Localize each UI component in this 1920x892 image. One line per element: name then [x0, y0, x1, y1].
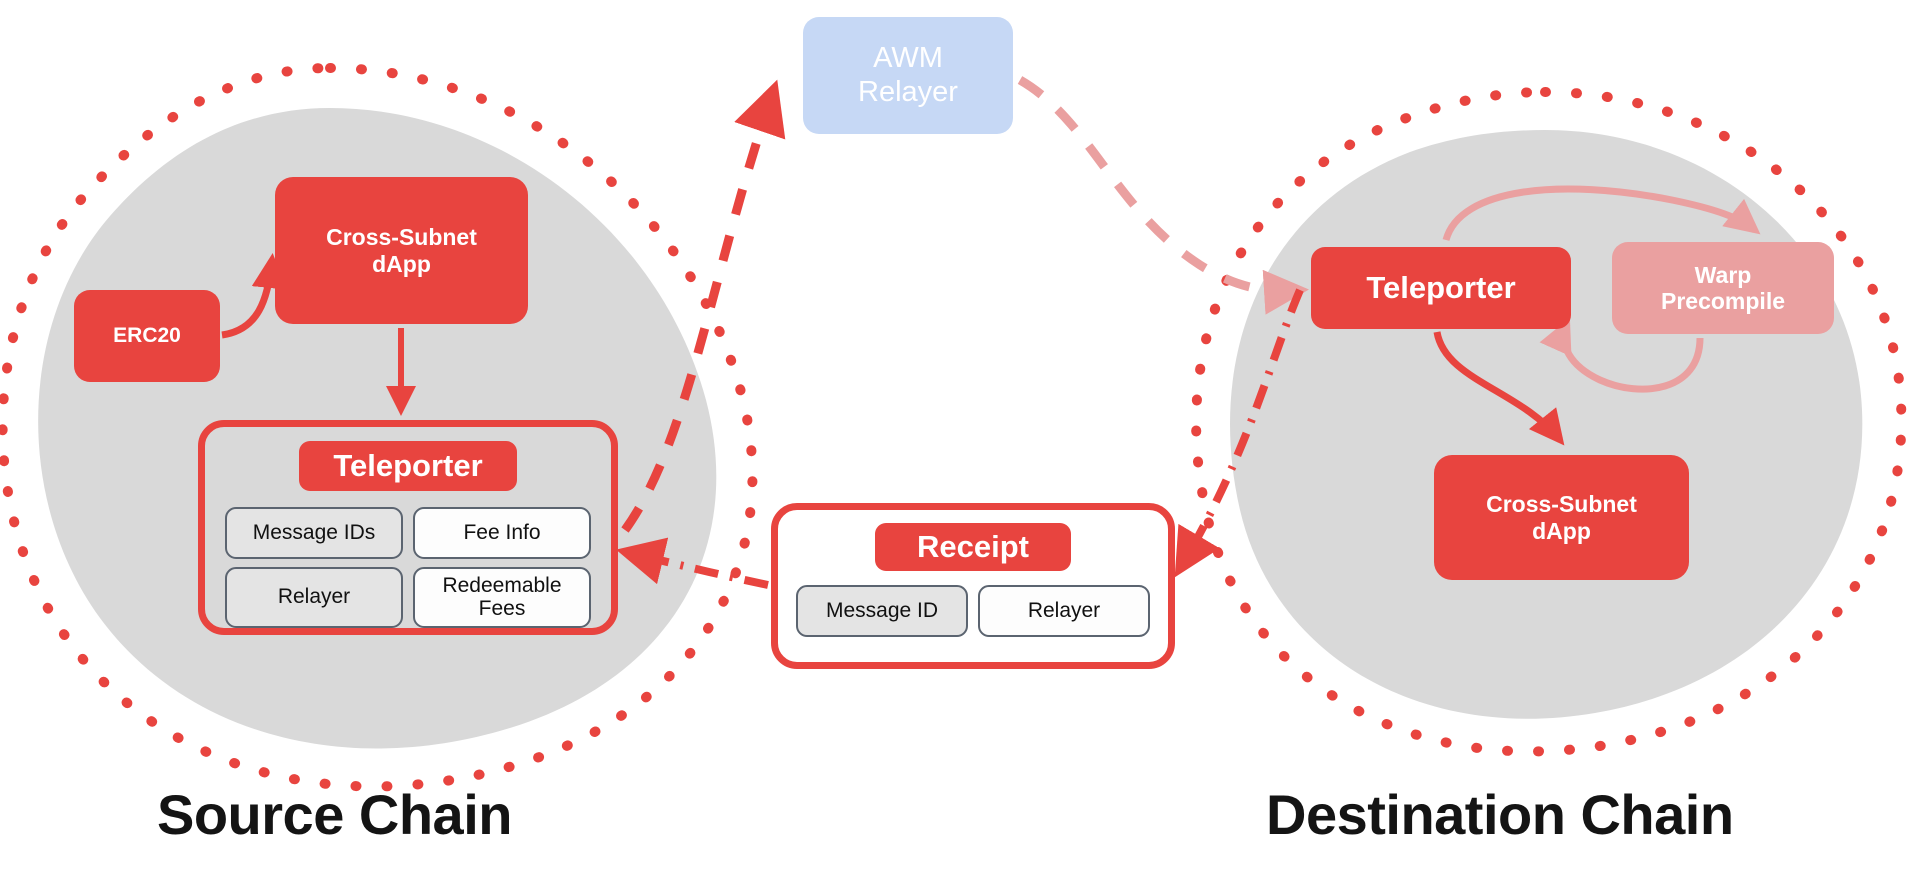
- receipt-title: Receipt: [875, 523, 1071, 571]
- node-awm-relayer[interactable]: AWM Relayer: [803, 17, 1013, 134]
- source-dapp-label-line1: Cross-Subnet: [326, 224, 477, 250]
- warp-precompile-label-line2: Precompile: [1661, 288, 1785, 314]
- arrow-destination-to-receipt: [1182, 290, 1300, 565]
- field-fee-info[interactable]: Fee Info: [413, 507, 591, 559]
- source-dapp-label-line2: dApp: [372, 251, 431, 277]
- panel-source-teleporter[interactable]: Teleporter Message IDs Fee Info Relayer …: [198, 420, 618, 635]
- awm-relayer-label-line1: AWM: [873, 42, 943, 74]
- arrow-source-teleporter-to-awm-relayer: [625, 95, 772, 530]
- field-relayer[interactable]: Relayer: [225, 567, 403, 628]
- source-dapp-label: Cross-Subnet dApp: [326, 224, 477, 277]
- node-destination-cross-subnet-dapp[interactable]: Cross-Subnet dApp: [1434, 455, 1689, 580]
- warp-precompile-label: Warp Precompile: [1661, 262, 1785, 315]
- warp-precompile-label-line1: Warp: [1695, 262, 1752, 288]
- arrow-awm-relayer-to-destination-teleporter: [1020, 80, 1300, 291]
- node-warp-precompile[interactable]: Warp Precompile: [1612, 242, 1834, 334]
- erc20-label: ERC20: [113, 324, 181, 348]
- node-erc20[interactable]: ERC20: [74, 290, 220, 382]
- destination-chain-label: Destination Chain: [1266, 782, 1734, 847]
- node-source-cross-subnet-dapp[interactable]: Cross-Subnet dApp: [275, 177, 528, 324]
- awm-relayer-label: AWM Relayer: [858, 42, 958, 109]
- source-chain-label: Source Chain: [157, 782, 512, 847]
- arrow-destination-teleporter-to-warp-precompile: [1446, 189, 1755, 240]
- field-receipt-relayer[interactable]: Relayer: [978, 585, 1150, 637]
- node-destination-teleporter[interactable]: Teleporter: [1311, 247, 1571, 329]
- field-receipt-message-id[interactable]: Message ID: [796, 585, 968, 637]
- arrow-receipt-to-source-teleporter: [630, 553, 768, 585]
- field-message-ids[interactable]: Message IDs: [225, 507, 403, 559]
- arrow-erc20-to-dapp: [222, 260, 272, 335]
- receipt-fields: Message ID Relayer: [796, 585, 1150, 637]
- panel-receipt[interactable]: Receipt Message ID Relayer: [771, 503, 1175, 669]
- awm-relayer-label-line2: Relayer: [858, 76, 958, 108]
- destination-teleporter-label: Teleporter: [1366, 270, 1515, 306]
- arrow-destination-teleporter-to-destination-dapp: [1437, 332, 1560, 440]
- field-redeemable-fees[interactable]: Redeemable Fees: [413, 567, 591, 628]
- source-teleporter-fields: Message IDs Fee Info Relayer Redeemable …: [225, 507, 591, 628]
- destination-dapp-label: Cross-Subnet dApp: [1486, 491, 1637, 544]
- destination-dapp-label-line1: Cross-Subnet: [1486, 491, 1637, 517]
- diagram-canvas: ERC20 Cross-Subnet dApp Teleporter Messa…: [0, 0, 1920, 892]
- source-teleporter-title: Teleporter: [299, 441, 516, 491]
- destination-dapp-label-line2: dApp: [1532, 518, 1591, 544]
